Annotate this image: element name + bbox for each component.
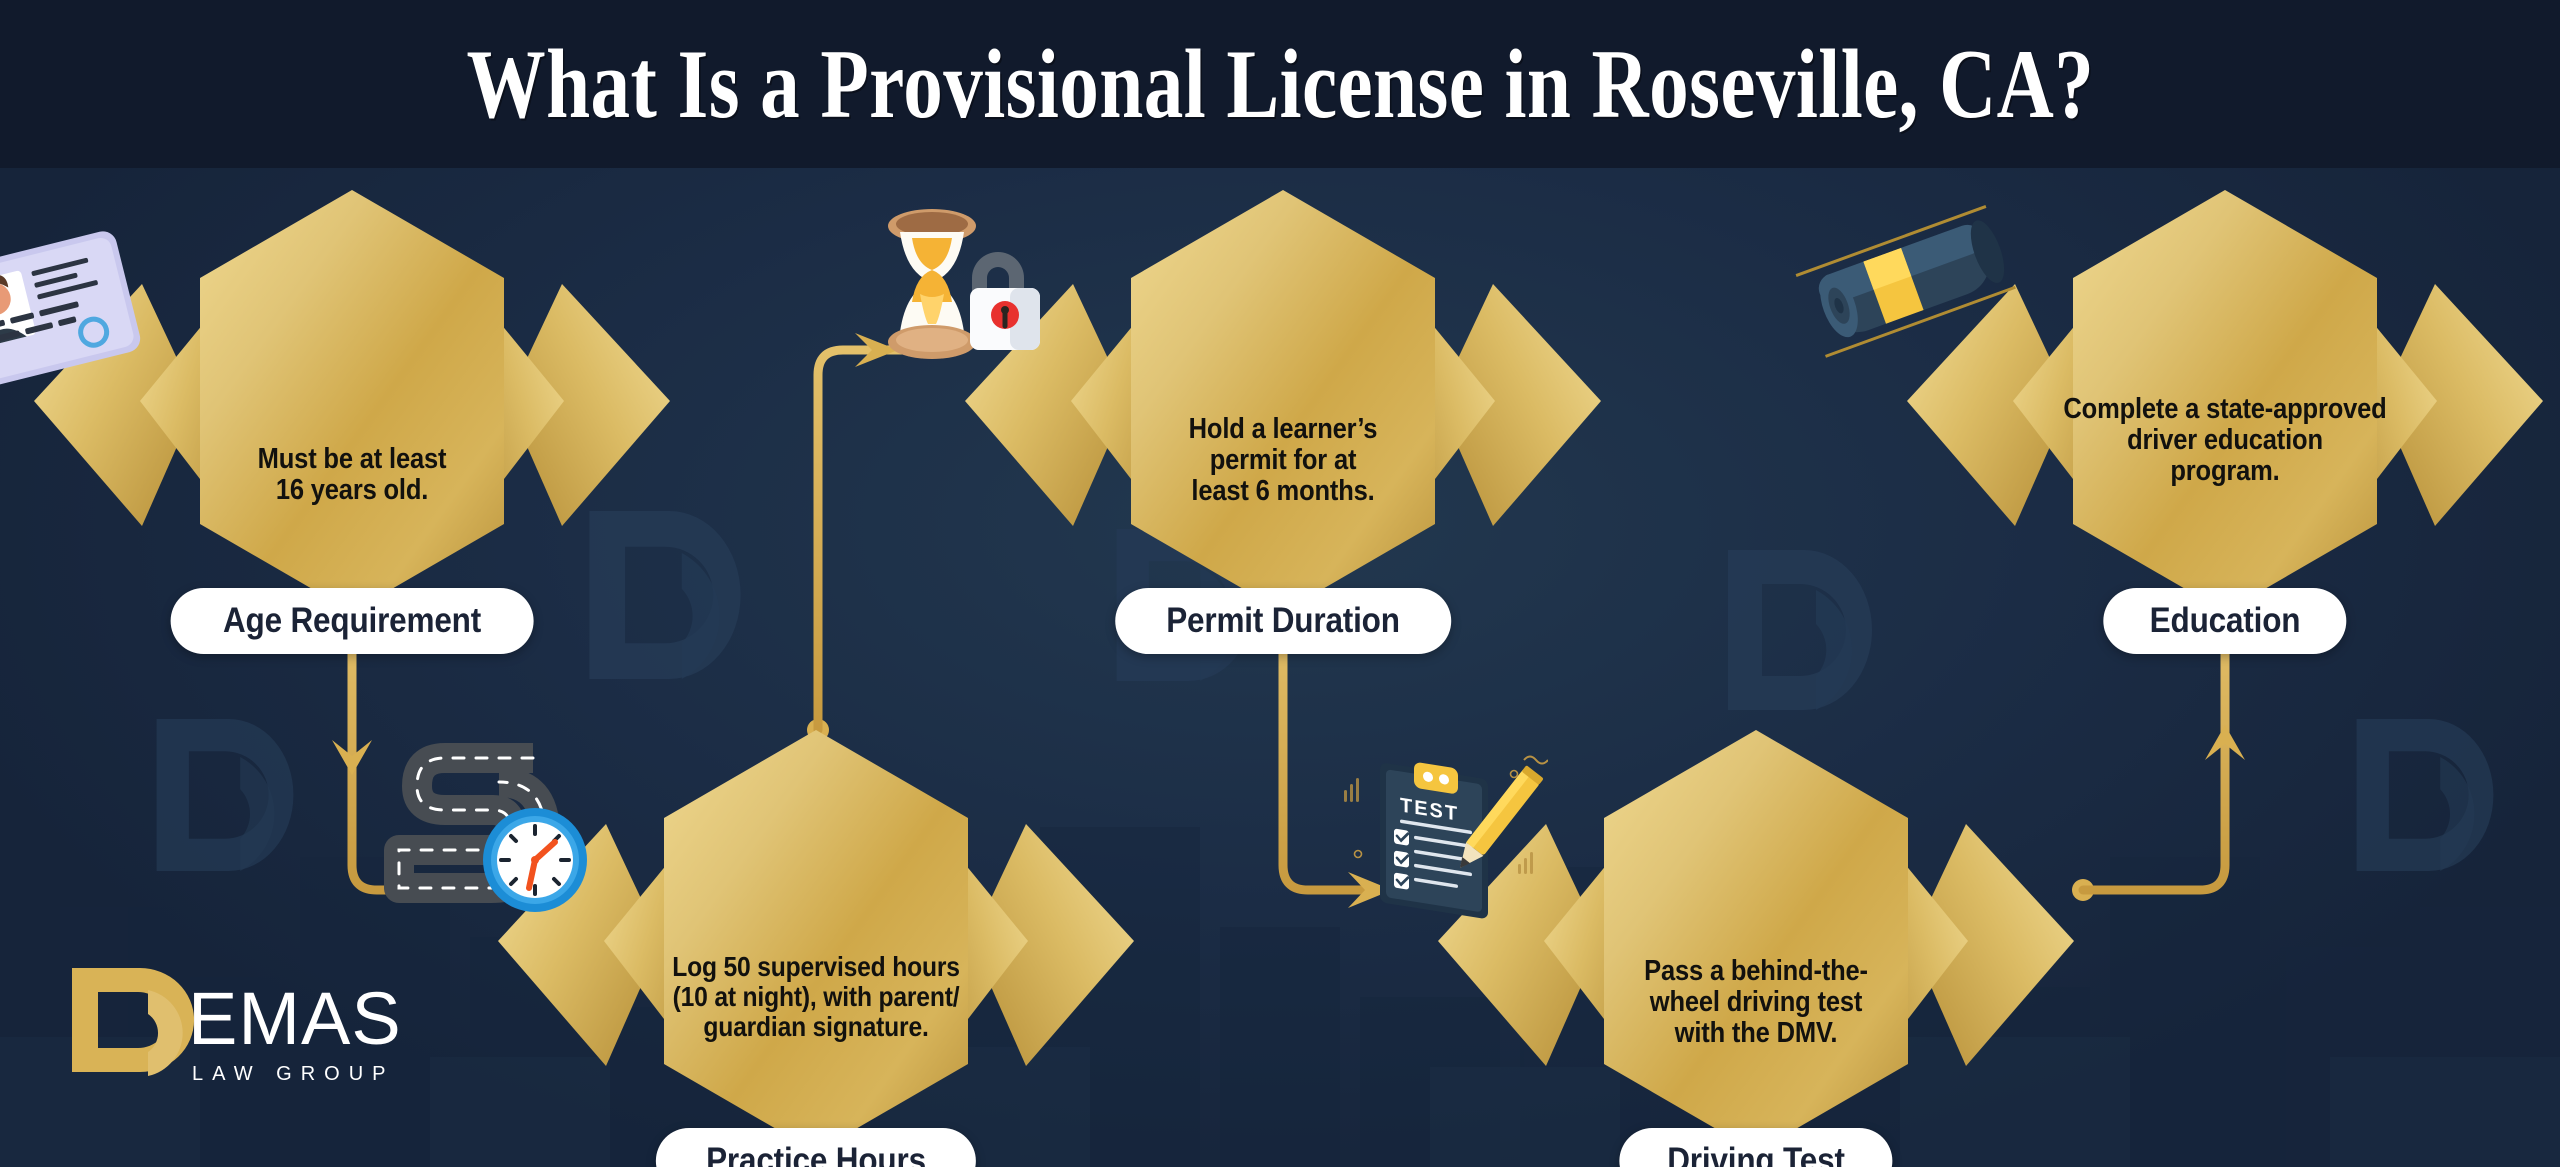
node-label-pill-practice-hours[interactable]: Practice Hours — [656, 1128, 976, 1167]
node-body-text: Log 50 supervised hours (10 at night), w… — [523, 952, 1108, 1042]
hexagon-badge: Must be at least 16 years old. — [34, 186, 670, 616]
node-label: Driving Test — [1667, 1141, 1845, 1167]
node-body-line: wheel driving test — [1543, 987, 1968, 1018]
node-label-pill-permit-duration[interactable]: Permit Duration — [1115, 588, 1451, 654]
node-body-text: Complete a state-approved driver educati… — [1945, 394, 2505, 487]
hexagon-badge: Complete a state-approved driver educati… — [1907, 186, 2543, 616]
hexagon-core — [664, 730, 968, 1152]
svg-text:LAW GROUP: LAW GROUP — [192, 1063, 395, 1085]
header-bar: What Is a Provisional License in Rosevil… — [0, 0, 2560, 168]
hexagon-shape — [965, 186, 1601, 616]
node-label-pill-education[interactable]: Education — [2103, 588, 2346, 654]
node-art: Must be at least 16 years old. — [34, 186, 670, 616]
node-body-line: least 6 months. — [1070, 476, 1495, 507]
watermark-d-icon — [1700, 530, 1900, 730]
node-art: Complete a state-approved driver educati… — [1907, 186, 2543, 616]
hexagon-badge: TEST — [1438, 726, 2074, 1156]
node-label: Practice Hours — [706, 1141, 926, 1167]
node-education[interactable]: Complete a state-approved driver educati… — [1907, 186, 2543, 616]
hexagon-badge: Log 50 supervised hours (10 at night), w… — [498, 726, 1134, 1156]
logo-artwork: EMAS LAW GROUP — [62, 952, 482, 1102]
node-art: TEST — [1438, 726, 2074, 1156]
node-body-text: Must be at least 16 years old. — [110, 444, 593, 506]
hexagon-shape — [498, 726, 1134, 1156]
node-body-text: Pass a behind-the- wheel driving test wi… — [1514, 956, 1997, 1049]
node-body-text: Hold a learner’s permit for at least 6 m… — [1041, 414, 1524, 507]
node-age-requirement[interactable]: Must be at least 16 years old. Age Requi… — [34, 186, 670, 616]
watermark-d-icon — [2330, 700, 2520, 890]
connector-practice-to-permit — [807, 333, 955, 741]
logo-monogram-d-icon — [72, 968, 194, 1076]
node-driving-test[interactable]: TEST — [1438, 726, 2074, 1156]
demas-law-group-logo[interactable]: EMAS LAW GROUP — [62, 952, 482, 1107]
svg-text:EMAS: EMAS — [188, 977, 402, 1060]
node-body-line: permit for at — [1070, 445, 1495, 476]
node-body-line: program. — [1979, 456, 2472, 487]
infographic-canvas: Must be at least 16 years old. Age Requi… — [0, 0, 2560, 1167]
hexagon-shape — [1438, 726, 2074, 1156]
node-body-line: Complete a state-approved — [1979, 394, 2472, 425]
node-label-pill-driving-test[interactable]: Driving Test — [1619, 1128, 1892, 1167]
logo-tagline: LAW GROUP — [192, 1063, 395, 1085]
node-body-line: Pass a behind-the- — [1543, 956, 1968, 987]
hexagon-core — [1604, 730, 1908, 1152]
node-body-line: Log 50 supervised hours — [559, 952, 1074, 982]
node-body-line: with the DMV. — [1543, 1018, 1968, 1049]
node-label: Permit Duration — [1166, 601, 1400, 641]
node-label: Education — [2150, 601, 2301, 641]
watermark-d-icon — [130, 700, 320, 890]
hexagon-core — [1131, 190, 1435, 612]
node-label-pill-age-requirement[interactable]: Age Requirement — [171, 588, 534, 654]
node-body-line: Must be at least — [139, 444, 564, 475]
node-practice-hours[interactable]: Log 50 supervised hours (10 at night), w… — [498, 726, 1134, 1156]
node-permit-duration[interactable]: Hold a learner’s permit for at least 6 m… — [965, 186, 1601, 616]
node-art: Hold a learner’s permit for at least 6 m… — [965, 186, 1601, 616]
node-body-line: 16 years old. — [139, 475, 564, 506]
node-body-line: (10 at night), with parent/ — [559, 982, 1074, 1012]
node-art: Log 50 supervised hours (10 at night), w… — [498, 726, 1134, 1156]
hexagon-shape — [34, 186, 670, 616]
node-label: Age Requirement — [223, 601, 481, 641]
node-body-line: guardian signature. — [559, 1012, 1074, 1042]
connector-driving-test-to-education — [2072, 613, 2245, 901]
logo-wordmark: EMAS — [188, 977, 402, 1060]
node-body-line: Hold a learner’s — [1070, 414, 1495, 445]
hexagon-badge: Hold a learner’s permit for at least 6 m… — [965, 186, 1601, 616]
node-body-line: driver education — [1979, 425, 2472, 456]
page-title: What Is a Provisional License in Rosevil… — [466, 35, 2094, 134]
hexagon-core — [200, 190, 504, 612]
